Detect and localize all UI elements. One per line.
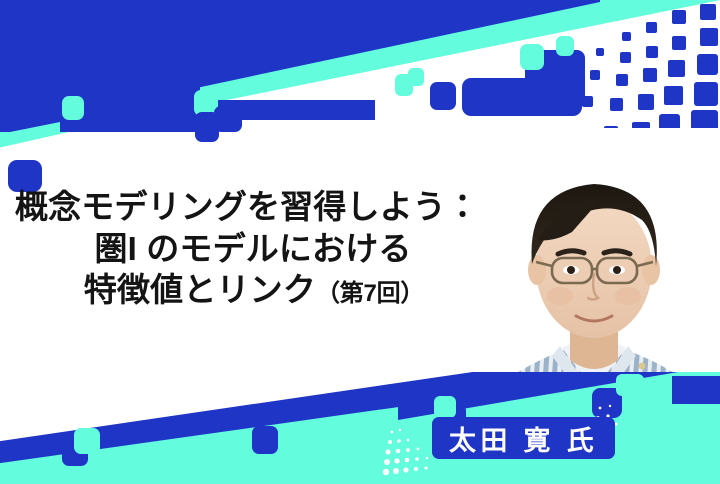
top-mint-accents (62, 36, 574, 120)
title-line-3-suffix: （第7回） (316, 280, 424, 307)
top-blue-mass (0, 0, 720, 134)
title-line-1: 概念モデリングを習得しよう： (0, 186, 500, 228)
top-left-mint-sliver (0, 122, 60, 152)
top-blue-drop-blocks (8, 106, 242, 192)
title-block: 概念モデリングを習得しよう： 圏I のモデルにおける 特徴値とリンク（第7回） (0, 186, 500, 311)
title-line-3: 特徴値とリンク（第7回） (8, 269, 500, 311)
title-card: 概念モデリングを習得しよう： 圏I のモデルにおける 特徴値とリンク（第7回） (0, 0, 720, 484)
top-blue-step-blocks (0, 0, 600, 134)
title-line-2: 圏I のモデルにおける (6, 228, 500, 270)
speaker-name-label: 太田 寛 氏 (449, 419, 598, 458)
title-line-3-main: 特徴値とリンク (84, 271, 316, 308)
pixel-squares (582, 4, 718, 140)
speaker-name-badge: 太田 寛 氏 (432, 417, 615, 459)
